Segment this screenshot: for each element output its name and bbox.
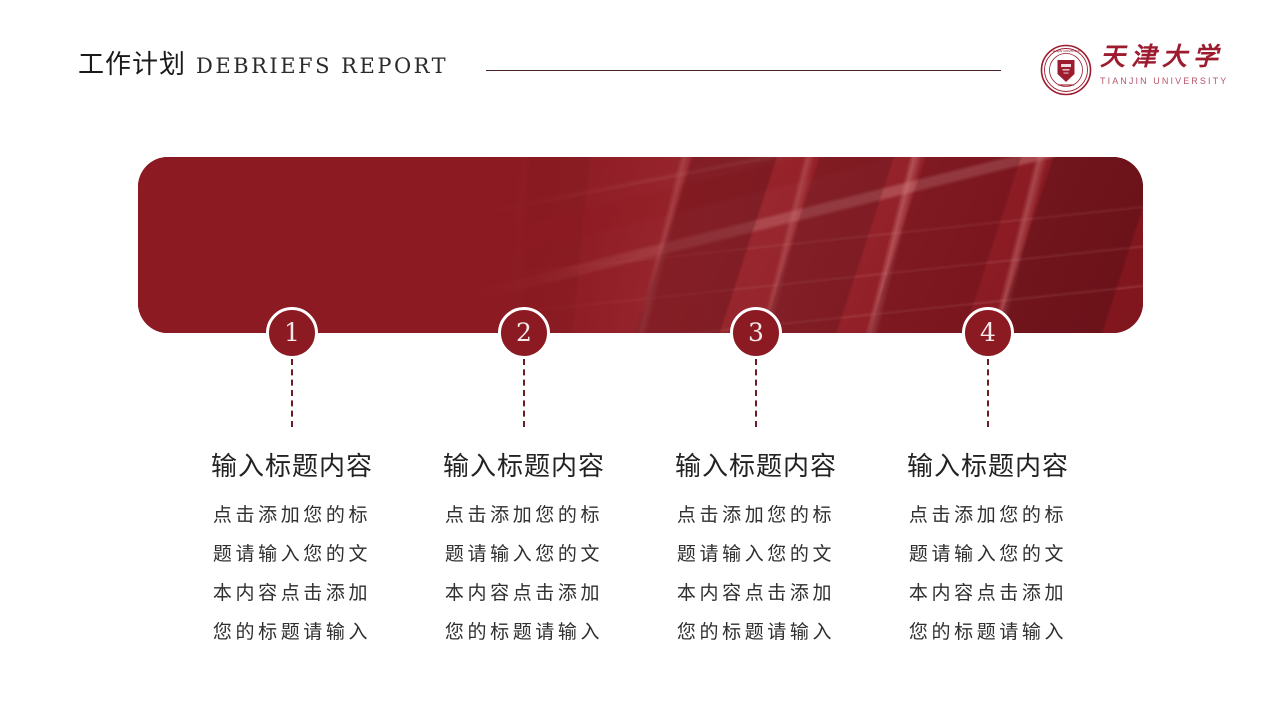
step-item-3[interactable]: 3 输入标题内容 点击添加您的标题请输入您的文本内容点击添加您的标题请输入 bbox=[640, 307, 872, 652]
step-title-1: 输入标题内容 bbox=[176, 449, 408, 485]
step-description-1: 点击添加您的标题请输入您的文本内容点击添加您的标题请输入 bbox=[203, 496, 381, 652]
step-number-3: 3 bbox=[748, 320, 764, 347]
step-number-2: 2 bbox=[516, 320, 532, 347]
step-number-1: 1 bbox=[284, 320, 300, 347]
step-title-3: 输入标题内容 bbox=[640, 449, 872, 485]
step-content-3: 输入标题内容 点击添加您的标题请输入您的文本内容点击添加您的标题请输入 bbox=[640, 449, 872, 652]
step-number-4: 4 bbox=[980, 320, 996, 347]
step-item-2[interactable]: 2 输入标题内容 点击添加您的标题请输入您的文本内容点击添加您的标题请输入 bbox=[408, 307, 640, 652]
step-description-2: 点击添加您的标题请输入您的文本内容点击添加您的标题请输入 bbox=[435, 496, 613, 652]
step-connector-3 bbox=[755, 359, 757, 427]
step-item-4[interactable]: 4 输入标题内容 点击添加您的标题请输入您的文本内容点击添加您的标题请输入 bbox=[872, 307, 1104, 652]
step-marker-4[interactable]: 4 bbox=[962, 307, 1014, 359]
steps-container: 1 输入标题内容 点击添加您的标题请输入您的文本内容点击添加您的标题请输入 2 … bbox=[0, 0, 1280, 720]
step-marker-3[interactable]: 3 bbox=[730, 307, 782, 359]
step-title-4: 输入标题内容 bbox=[872, 449, 1104, 485]
step-marker-1[interactable]: 1 bbox=[266, 307, 318, 359]
step-description-3: 点击添加您的标题请输入您的文本内容点击添加您的标题请输入 bbox=[667, 496, 845, 652]
step-item-1[interactable]: 1 输入标题内容 点击添加您的标题请输入您的文本内容点击添加您的标题请输入 bbox=[176, 307, 408, 652]
step-connector-2 bbox=[523, 359, 525, 427]
step-connector-4 bbox=[987, 359, 989, 427]
step-content-4: 输入标题内容 点击添加您的标题请输入您的文本内容点击添加您的标题请输入 bbox=[872, 449, 1104, 652]
step-title-2: 输入标题内容 bbox=[408, 449, 640, 485]
step-marker-2[interactable]: 2 bbox=[498, 307, 550, 359]
step-content-2: 输入标题内容 点击添加您的标题请输入您的文本内容点击添加您的标题请输入 bbox=[408, 449, 640, 652]
step-content-1: 输入标题内容 点击添加您的标题请输入您的文本内容点击添加您的标题请输入 bbox=[176, 449, 408, 652]
step-description-4: 点击添加您的标题请输入您的文本内容点击添加您的标题请输入 bbox=[899, 496, 1077, 652]
step-connector-1 bbox=[291, 359, 293, 427]
